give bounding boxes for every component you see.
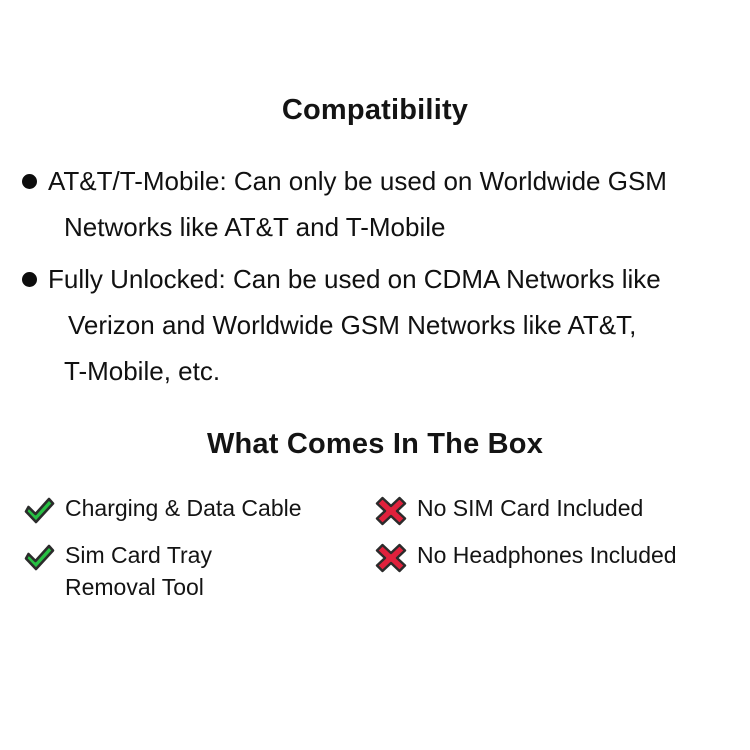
list-item: Charging & Data Cable [22, 492, 352, 527]
list-item-label-continued: T-Mobile, etc. [22, 348, 737, 394]
list-item-label: Fully Unlocked: Can be used on CDMA Netw… [48, 256, 737, 302]
bullet-dot-icon [22, 272, 37, 287]
bullet-dot-icon [22, 174, 37, 189]
box-contents-heading: What Comes In The Box [0, 427, 750, 461]
list-item: No SIM Card Included [374, 492, 734, 527]
list-item-label-continued: Networks like AT&T and T-Mobile [22, 204, 737, 250]
red-cross-icon [374, 495, 408, 527]
list-item: Fully Unlocked: Can be used on CDMA Netw… [22, 256, 737, 394]
compatibility-list: AT&T/T-Mobile: Can only be used on World… [22, 158, 737, 400]
green-check-icon [22, 495, 56, 527]
list-item: No Headphones Included [374, 539, 734, 574]
list-item-label: Charging & Data Cable [65, 492, 302, 524]
list-item-label: Sim Card Tray Removal Tool [65, 539, 212, 603]
compatibility-heading: Compatibility [0, 93, 750, 127]
list-item: AT&T/T-Mobile: Can only be used on World… [22, 158, 737, 250]
list-item: Sim Card Tray Removal Tool [22, 539, 352, 603]
list-item-label: AT&T/T-Mobile: Can only be used on World… [48, 158, 737, 204]
product-info-panel: Compatibility AT&T/T-Mobile: Can only be… [0, 0, 750, 750]
list-item-label: No Headphones Included [417, 539, 677, 571]
red-cross-icon [374, 542, 408, 574]
box-contents-included-column: Charging & Data Cable Sim Card Tray Remo… [22, 492, 352, 615]
list-item-label: No SIM Card Included [417, 492, 643, 524]
list-item-label-continued: Verizon and Worldwide GSM Networks like … [22, 302, 737, 348]
box-contents-excluded-column: No SIM Card Included No Headphones Inclu… [374, 492, 734, 586]
green-check-icon [22, 542, 56, 574]
